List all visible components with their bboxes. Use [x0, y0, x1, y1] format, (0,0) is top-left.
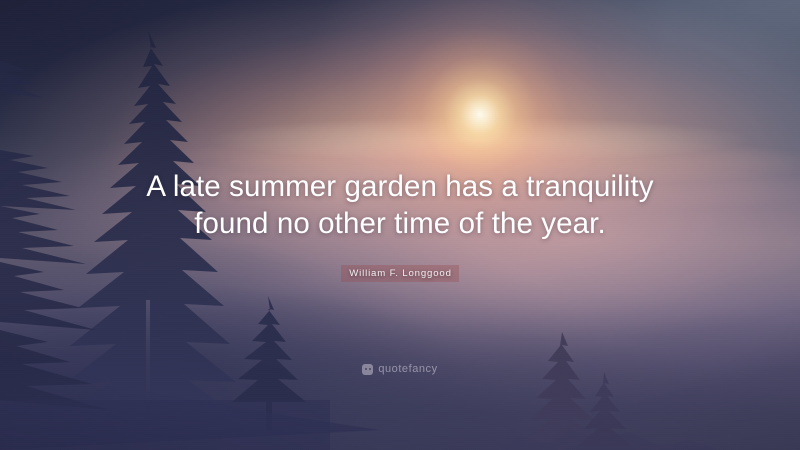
attribution-wrap: William F. Longgood	[0, 263, 800, 282]
quote-image-canvas: A late summer garden has a tranquilityfo…	[0, 0, 800, 450]
quote-author: William F. Longgood	[341, 265, 459, 282]
watermark-brand-label: quotefancy	[378, 363, 437, 375]
quote-text: A late summer garden has a tranquilityfo…	[0, 168, 800, 242]
quote-line-1: A late summer garden has a tranquility	[146, 170, 653, 203]
quotefancy-logo-icon	[362, 364, 373, 375]
watermark[interactable]: quotefancy	[0, 363, 800, 375]
quote-line-2: found no other time of the year.	[194, 207, 606, 240]
quote-block: A late summer garden has a tranquilityfo…	[0, 168, 800, 242]
